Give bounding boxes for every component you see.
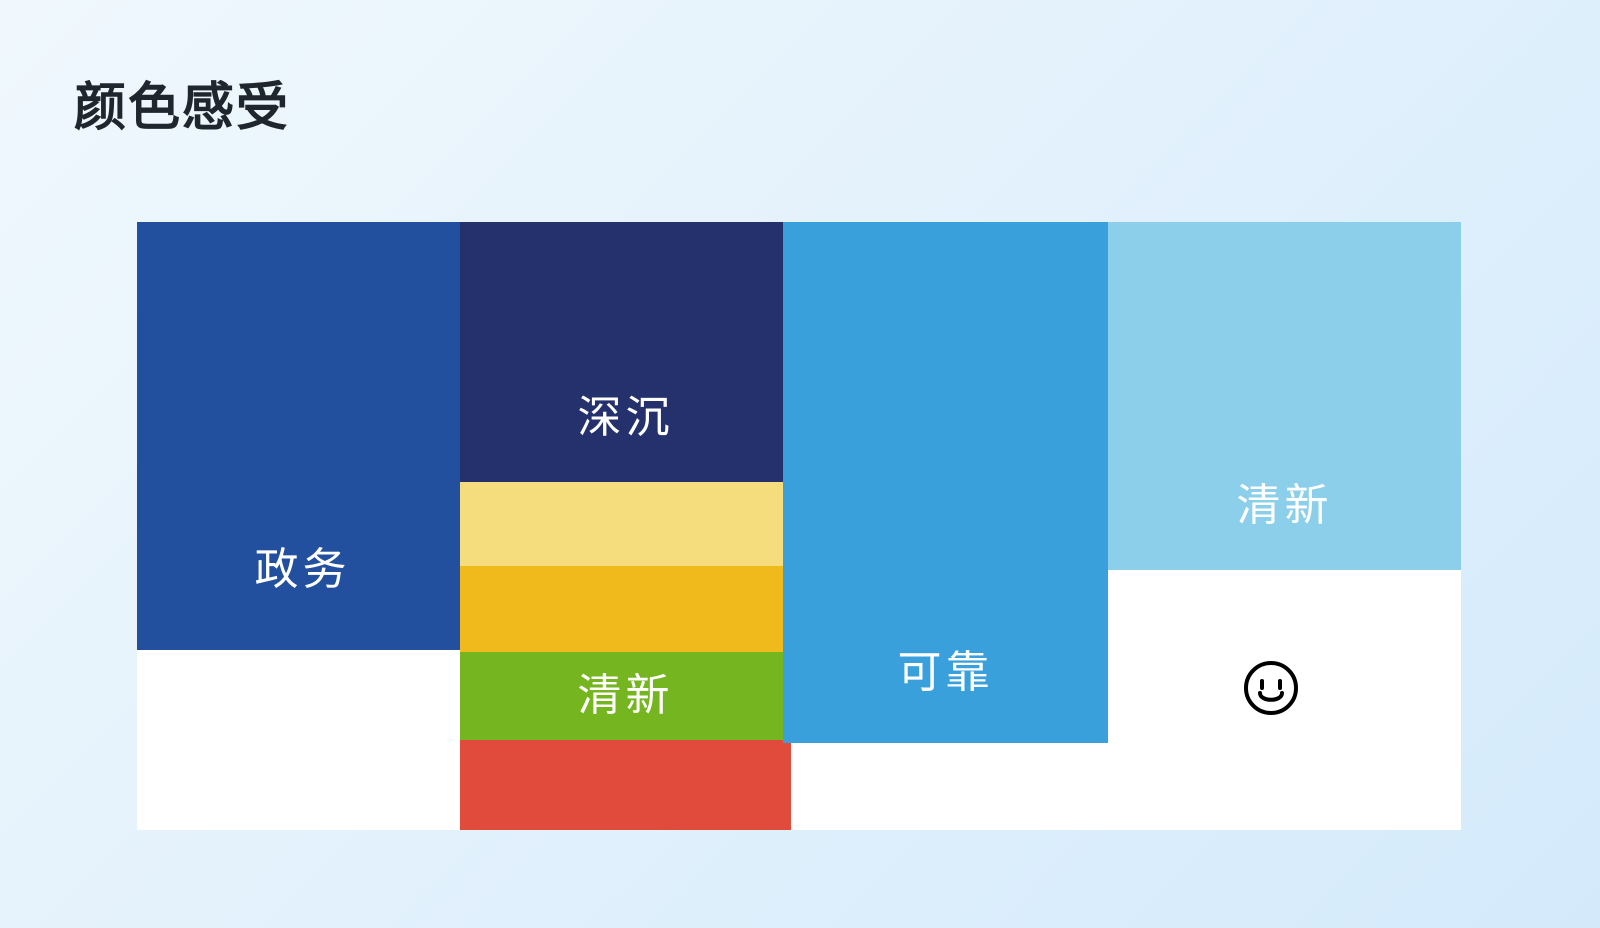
swatch-green[interactable]: 清新 — [460, 652, 791, 740]
swatch-government[interactable]: 政务 — [137, 222, 468, 650]
swatch-red[interactable] — [460, 740, 791, 830]
swatch-reliable[interactable]: 可靠 — [783, 222, 1108, 743]
swatch-label-deep: 深沉 — [578, 396, 674, 440]
swatch-lemon[interactable] — [460, 482, 791, 566]
page-title: 颜色感受 — [74, 82, 290, 134]
smiley-face-icon — [1243, 660, 1299, 716]
swatch-gold[interactable] — [460, 566, 791, 652]
swatch-label-green: 清新 — [578, 674, 674, 718]
swatch-fresh-light[interactable]: 清新 — [1108, 222, 1461, 570]
swatch-label-reliable: 可靠 — [898, 651, 994, 695]
palette-card: 政务 深沉 清新 可靠 清新 — [137, 222, 1461, 830]
swatch-label-fresh: 清新 — [1237, 484, 1333, 528]
swatch-label-government: 政务 — [255, 548, 351, 592]
swatch-deep[interactable]: 深沉 — [460, 222, 791, 482]
